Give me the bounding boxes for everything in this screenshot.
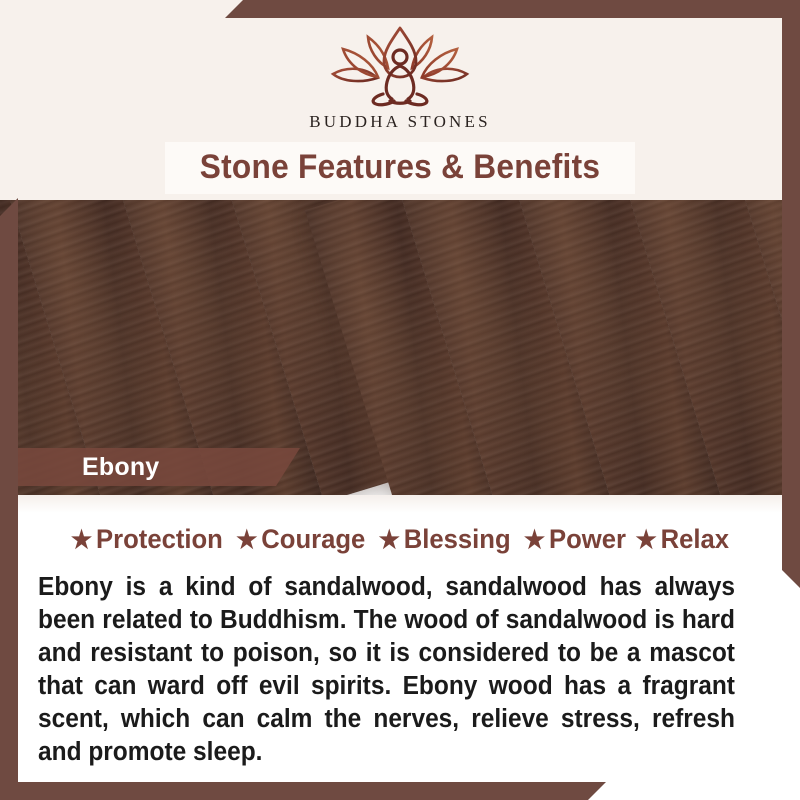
brand-name: BUDDHA STONES: [0, 112, 800, 132]
frame-band-right: [782, 10, 800, 588]
content-section: ★ Protection ★ Courage ★ Blessing ★ Powe…: [0, 495, 800, 800]
star-icon: ★: [71, 528, 92, 553]
content-top-fade: [0, 495, 800, 513]
frame-band-left: [0, 198, 18, 800]
lotus-meditation-icon: [326, 22, 474, 108]
stone-features-poster: BUDDHA STONES Stone Features & Benefits …: [0, 0, 800, 800]
page-title: Stone Features & Benefits: [28, 148, 772, 187]
benefit-label: Protection: [96, 524, 223, 555]
frame-band-bottom: [0, 782, 606, 800]
benefit-label: Relax: [661, 524, 729, 555]
header-section: BUDDHA STONES Stone Features & Benefits: [0, 0, 800, 200]
benefit-item: ★ Relax: [636, 524, 730, 555]
product-name: Ebony: [82, 453, 159, 482]
product-name-ribbon: Ebony: [0, 448, 300, 486]
benefit-label: Courage: [261, 524, 365, 555]
wood-slab-right: [305, 200, 800, 495]
star-icon: ★: [524, 528, 545, 553]
benefit-item: ★ Protection: [71, 524, 223, 555]
star-icon: ★: [636, 528, 657, 553]
description-text: Ebony is a kind of sandalwood, sandalwoo…: [38, 571, 735, 769]
benefits-list: ★ Protection ★ Courage ★ Blessing ★ Powe…: [20, 524, 780, 555]
brand-logo: BUDDHA STONES: [0, 22, 800, 132]
frame-band-top: [225, 0, 800, 18]
star-icon: ★: [379, 528, 400, 553]
benefit-label: Blessing: [404, 524, 511, 555]
benefit-item: ★ Power: [524, 524, 626, 555]
star-icon: ★: [236, 528, 257, 553]
benefit-item: ★ Blessing: [379, 524, 511, 555]
benefit-item: ★ Courage: [236, 524, 365, 555]
benefit-label: Power: [549, 524, 626, 555]
